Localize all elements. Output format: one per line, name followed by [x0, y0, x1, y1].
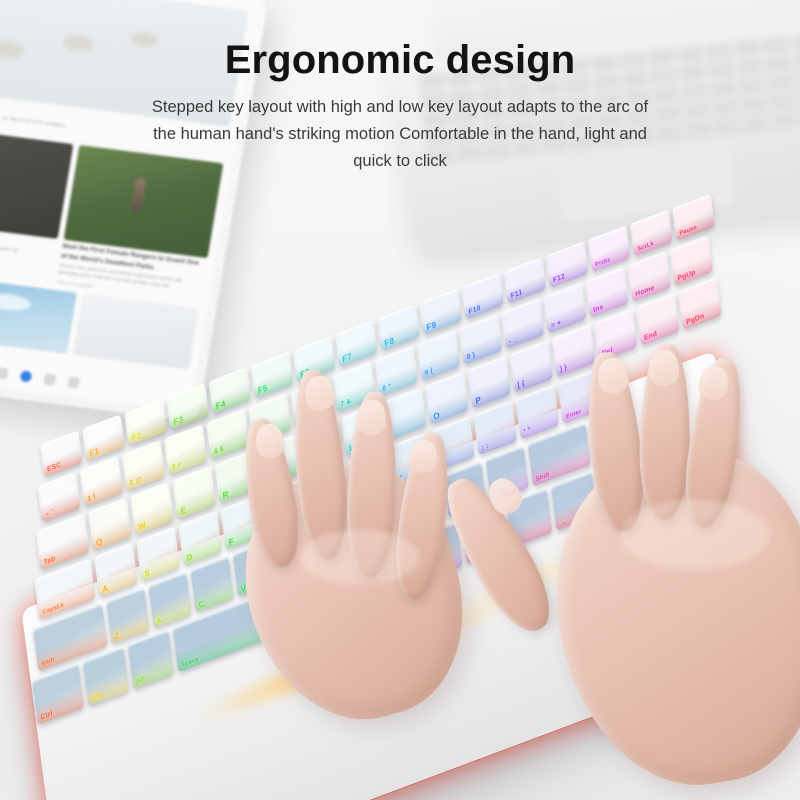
- keycap-legend: Ins: [593, 303, 604, 314]
- keycap-ctrl[interactable]: Ctrl: [32, 663, 85, 725]
- keycap-legend: F11: [510, 289, 522, 300]
- keycap-legend: [ {: [517, 380, 525, 390]
- keycap-legend: Win: [91, 691, 104, 703]
- keycap-legend: F5: [257, 383, 268, 395]
- keycap-s[interactable]: S: [136, 527, 180, 582]
- keycap-f8[interactable]: F8: [377, 304, 420, 351]
- keycap-legend: PgDn: [686, 313, 705, 327]
- keycap-legend: ] }: [559, 364, 567, 374]
- keycap-legend: F7: [342, 351, 353, 363]
- keycap-d[interactable]: D: [178, 511, 222, 566]
- keycap-ins[interactable]: Ins: [585, 267, 628, 318]
- keycap-legend: P: [475, 395, 482, 406]
- keycap-legend: = +: [551, 319, 562, 330]
- keycap-legend: Ctrl: [40, 710, 53, 722]
- keycap-f12[interactable]: F12: [546, 241, 589, 288]
- keycap-f4[interactable]: F4: [209, 367, 252, 414]
- keycap-[interactable]: - _: [501, 298, 544, 349]
- keycap-legend: Home: [635, 284, 655, 298]
- keycap-legend: ~ `: [45, 509, 54, 519]
- keycap-legend: F: [228, 536, 234, 547]
- keycap-legend: Shift: [41, 657, 55, 668]
- keycap-legend: Alt: [136, 675, 146, 686]
- keycap-4[interactable]: 4 $: [206, 409, 249, 460]
- keycap-alt[interactable]: Alt: [127, 629, 174, 689]
- keycap-f2[interactable]: F2: [124, 399, 167, 446]
- keycap-legend: F2: [131, 430, 142, 442]
- keycap-legend: Tab: [43, 555, 56, 567]
- keycap-p[interactable]: P: [467, 356, 510, 409]
- keycap-f9[interactable]: F9: [419, 288, 462, 335]
- keycap-c[interactable]: C: [190, 556, 234, 613]
- keycap-legend: PrtSc: [595, 257, 611, 269]
- keycap-win[interactable]: Win: [82, 646, 129, 706]
- keycap-3[interactable]: 3 #: [164, 424, 207, 475]
- keycap-prtsc[interactable]: PrtSc: [588, 225, 631, 272]
- keycap-legend: R: [222, 489, 229, 500]
- keycap-legend: Pause: [679, 225, 697, 238]
- keycap-legend: F8: [384, 335, 395, 347]
- keycap-o[interactable]: O: [425, 371, 468, 424]
- keycap-legend: 4 $: [214, 445, 225, 456]
- keycap-pgdn[interactable]: PgDn: [678, 277, 721, 330]
- keycap-f11[interactable]: F11: [504, 257, 547, 304]
- product-promo-image: Favorite Wolf Photos Featured first appe…: [0, 0, 800, 800]
- keycap-x[interactable]: X: [148, 571, 192, 628]
- keycap-pause[interactable]: Pause: [672, 194, 715, 241]
- keycap-legend: E: [180, 505, 187, 516]
- keycap-[interactable]: ' ": [516, 385, 560, 440]
- keycap-legend: Z: [114, 630, 120, 641]
- keycap-1[interactable]: 1 !: [80, 456, 123, 507]
- keycap-w[interactable]: W: [130, 482, 173, 535]
- keycap-f3[interactable]: F3: [166, 383, 209, 430]
- keycap-legend: ESC: [47, 461, 62, 473]
- keycap-legend: 7 &: [340, 398, 352, 409]
- keycap-legend: Space: [181, 657, 199, 670]
- keycap-legend: C: [198, 598, 205, 609]
- keycap-scrlk[interactable]: ScrLk: [630, 210, 673, 257]
- keycap-[interactable]: [ {: [510, 340, 553, 393]
- keycap-pgup[interactable]: PgUp: [670, 235, 713, 286]
- keycap-0[interactable]: 0 ): [459, 314, 502, 365]
- keycap-legend: 9 (: [424, 367, 433, 377]
- keycap-z[interactable]: Z: [106, 587, 150, 644]
- keycap-legend: CapsLk: [42, 602, 64, 616]
- keycap-f7[interactable]: F7: [335, 320, 378, 367]
- keycap-legend: ; :: [481, 442, 489, 452]
- keycap-legend: Q: [96, 536, 104, 547]
- keycap-esc[interactable]: ESC: [40, 430, 83, 477]
- keycap-f1[interactable]: F1: [82, 414, 125, 461]
- keycap-8[interactable]: 8 *: [375, 346, 418, 397]
- keycap-a[interactable]: A: [94, 542, 138, 597]
- keycap-legend: F10: [468, 304, 481, 316]
- keycap-legend: F1: [89, 446, 100, 458]
- keycap-legend: 2 @: [129, 476, 142, 488]
- keycap-e[interactable]: E: [172, 466, 215, 519]
- keycap-2[interactable]: 2 @: [122, 440, 165, 491]
- keycap-legend: - _: [509, 336, 518, 346]
- keycap-[interactable]: ] }: [552, 324, 595, 377]
- keycap-f10[interactable]: F10: [461, 273, 504, 320]
- keycap-legend: W: [138, 520, 147, 532]
- keycap-legend: End: [644, 330, 658, 342]
- keycap-legend: →: [559, 516, 568, 528]
- keycap-legend: 3 #: [171, 461, 182, 472]
- keycap-[interactable]: ~ `: [38, 472, 81, 523]
- keycap-legend: 0 ): [466, 351, 475, 361]
- keycap-legend: Shift: [536, 472, 550, 483]
- keycap-home[interactable]: Home: [628, 251, 671, 302]
- keycap-legend: PgUp: [677, 269, 696, 283]
- keycap-legend: F4: [215, 398, 226, 410]
- keycap-legend: S: [144, 567, 151, 578]
- keycap-legend: D: [186, 552, 193, 563]
- keycap-legend: F3: [173, 414, 184, 426]
- keycap-legend: F9: [426, 320, 437, 332]
- keycap-9[interactable]: 9 (: [417, 330, 460, 381]
- keycap-legend: 1 !: [87, 493, 96, 503]
- keycap-end[interactable]: End: [636, 293, 679, 346]
- keycap-legend: O: [433, 410, 441, 421]
- keycap-legend: 8 *: [382, 383, 392, 393]
- keycap-q[interactable]: Q: [88, 498, 131, 551]
- keycap-[interactable]: ; :: [473, 400, 517, 455]
- keycap-f5[interactable]: F5: [251, 351, 294, 398]
- keycap-legend: X: [156, 614, 163, 625]
- keycap-legend: Enter: [566, 409, 582, 421]
- keycap-legend: ScrLk: [637, 241, 654, 253]
- keycap-legend: ' ": [523, 427, 531, 437]
- keycap-legend: F12: [553, 273, 566, 285]
- keycap-legend: A: [102, 583, 109, 594]
- keycap-[interactable]: = +: [543, 283, 586, 334]
